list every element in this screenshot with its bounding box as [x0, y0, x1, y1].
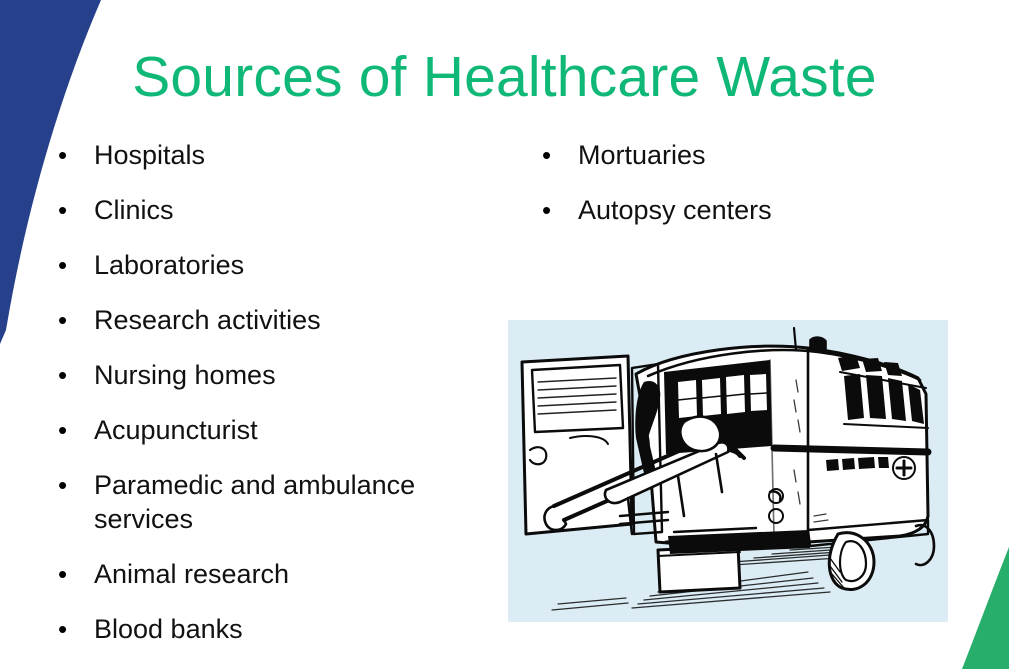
list-item: • Nursing homes	[48, 358, 500, 392]
ambulance-illustration	[508, 320, 948, 622]
list-item: • Acupuncturist	[48, 413, 500, 447]
bullet-point-icon: •	[48, 612, 94, 646]
list-item-label: Acupuncturist	[94, 413, 500, 447]
list-item: • Mortuaries	[532, 138, 952, 172]
list-item-label: Hospitals	[94, 138, 500, 172]
bullet-point-icon: •	[48, 468, 94, 502]
list-item: • Clinics	[48, 193, 500, 227]
list-item: • Research activities	[48, 303, 500, 337]
bullet-list-right: • Mortuaries • Autopsy centers	[532, 138, 952, 248]
list-item-label: Blood banks	[94, 612, 500, 646]
list-item: • Animal research	[48, 557, 500, 591]
slide: Sources of Healthcare Waste • Hospitals …	[0, 0, 1009, 669]
list-item: • Blood banks	[48, 612, 500, 646]
list-item-label: Mortuaries	[578, 138, 952, 172]
list-item: • Paramedic and ambulance services	[48, 468, 500, 536]
list-item-label: Research activities	[94, 303, 500, 337]
bullet-point-icon: •	[48, 358, 94, 392]
bullet-point-icon: •	[48, 557, 94, 591]
ambulance-line-art-icon	[508, 320, 948, 622]
list-item-label: Clinics	[94, 193, 500, 227]
list-item: • Hospitals	[48, 138, 500, 172]
bullet-point-icon: •	[48, 413, 94, 447]
bullet-point-icon: •	[48, 303, 94, 337]
list-item: • Autopsy centers	[532, 193, 952, 227]
green-corner-wedge	[962, 547, 1009, 669]
bullet-point-icon: •	[532, 138, 578, 172]
page-title: Sources of Healthcare Waste	[0, 48, 1009, 108]
bullet-point-icon: •	[532, 193, 578, 227]
list-item-label: Paramedic and ambulance services	[94, 468, 500, 536]
bullet-point-icon: •	[48, 193, 94, 227]
list-item-label: Nursing homes	[94, 358, 500, 392]
list-item-label: Laboratories	[94, 248, 500, 282]
bullet-point-icon: •	[48, 138, 94, 172]
list-item: • Laboratories	[48, 248, 500, 282]
bullet-list-left: • Hospitals • Clinics • Laboratories • R…	[48, 138, 500, 667]
list-item-label: Animal research	[94, 557, 500, 591]
bullet-point-icon: •	[48, 248, 94, 282]
list-item-label: Autopsy centers	[578, 193, 952, 227]
